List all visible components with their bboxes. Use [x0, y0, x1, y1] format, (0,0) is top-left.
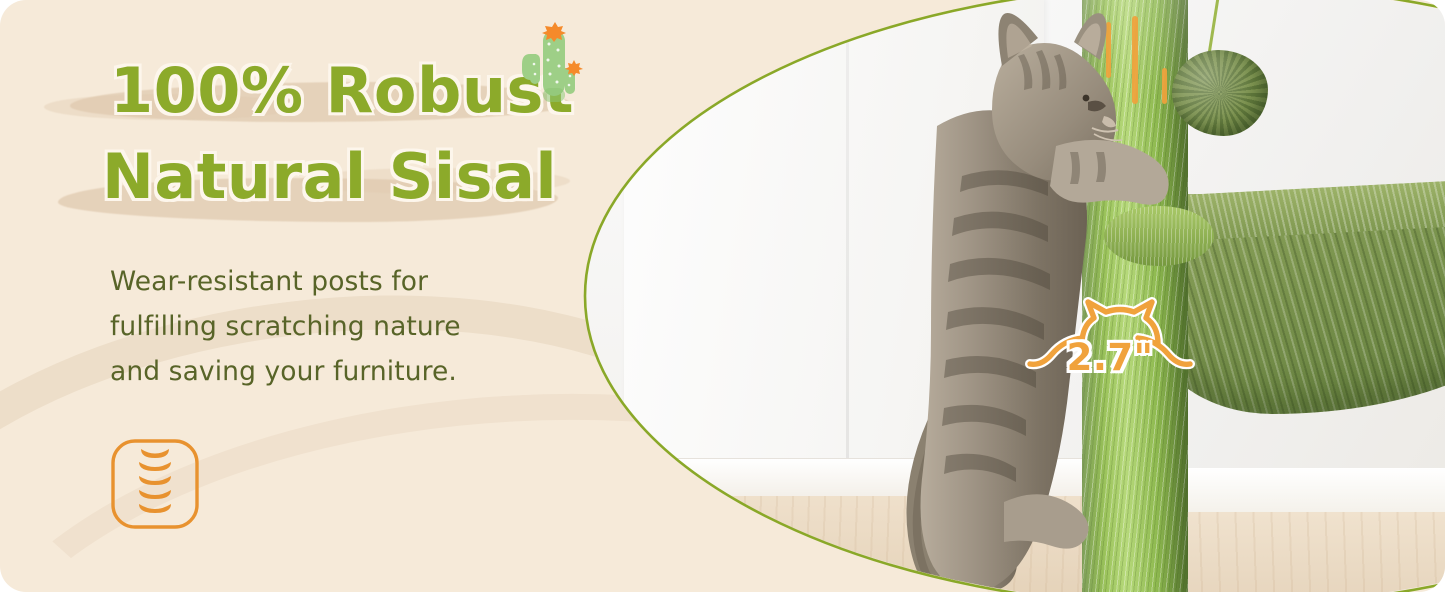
cat-lower-paw: [1004, 494, 1088, 548]
cat-front-paw: [1050, 140, 1169, 205]
subtext-line-2: fulfilling scratching nature: [110, 304, 540, 349]
subtext-block: Wear-resistant posts for fulfilling scra…: [110, 259, 540, 394]
headline-line-1: 100% Robust: [110, 46, 574, 136]
subtext-line-3: and saving your furniture.: [110, 349, 540, 394]
sisal-rope-coil-icon: [139, 449, 171, 513]
subtext-line-1: Wear-resistant posts for: [110, 259, 540, 304]
headline-line-2-row: Natural Sisal: [0, 132, 620, 222]
product-photo-panel: [560, 0, 1445, 592]
sisal-feature-banner: 100% Robust Natural Sisal: [0, 0, 1445, 592]
headline-line-2: Natural Sisal: [102, 132, 557, 222]
sisal-rope-badge: [110, 438, 200, 530]
measurement-value: 2.7": [1020, 336, 1200, 379]
product-photo: [584, 0, 1445, 592]
